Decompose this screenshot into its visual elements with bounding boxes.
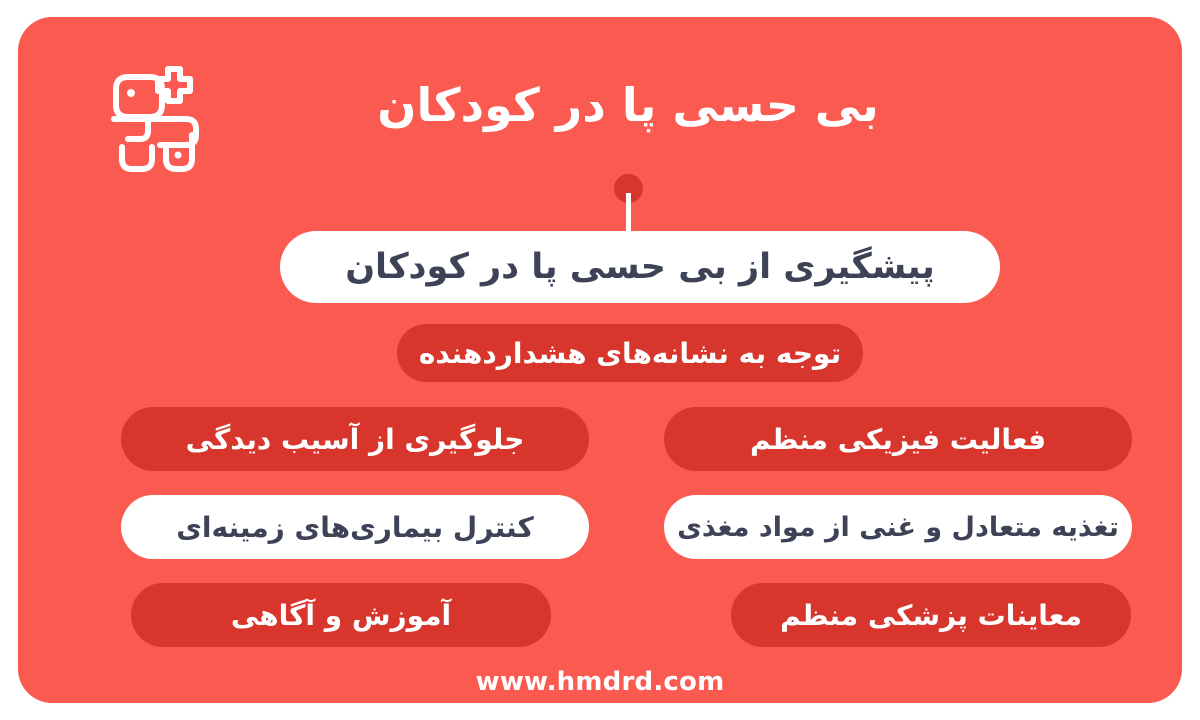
node-chronic-disease-control[interactable]: کنترل بیماری‌های زمینه‌ای	[121, 495, 589, 559]
node-balanced-nutrition[interactable]: تغذیه متعادل و غنی از مواد مغذی	[664, 495, 1132, 559]
node-education-awareness[interactable]: آموزش و آگاهی	[131, 583, 551, 647]
node-injury-prevention[interactable]: جلوگیری از آسیب دیدگی	[121, 407, 589, 471]
page-title: بی حسی پا در کودکان	[248, 77, 1008, 135]
node-warning-signs[interactable]: توجه به نشانه‌های هشداردهنده	[397, 324, 863, 382]
hamdard-online-logo[interactable]	[96, 59, 214, 177]
infographic-root: بی حسی پا در کودکان پیشگیری از بی حسی پا…	[0, 0, 1200, 720]
node-regular-checkups[interactable]: معاینات پزشکی منظم	[731, 583, 1131, 647]
root-node-prevention[interactable]: پیشگیری از بی حسی پا در کودکان	[280, 231, 1000, 303]
footer-website-url[interactable]: www.hmdrd.com	[18, 667, 1182, 697]
main-panel: بی حسی پا در کودکان پیشگیری از بی حسی پا…	[18, 17, 1182, 703]
node-physical-activity[interactable]: فعالیت فیزیکی منظم	[664, 407, 1132, 471]
